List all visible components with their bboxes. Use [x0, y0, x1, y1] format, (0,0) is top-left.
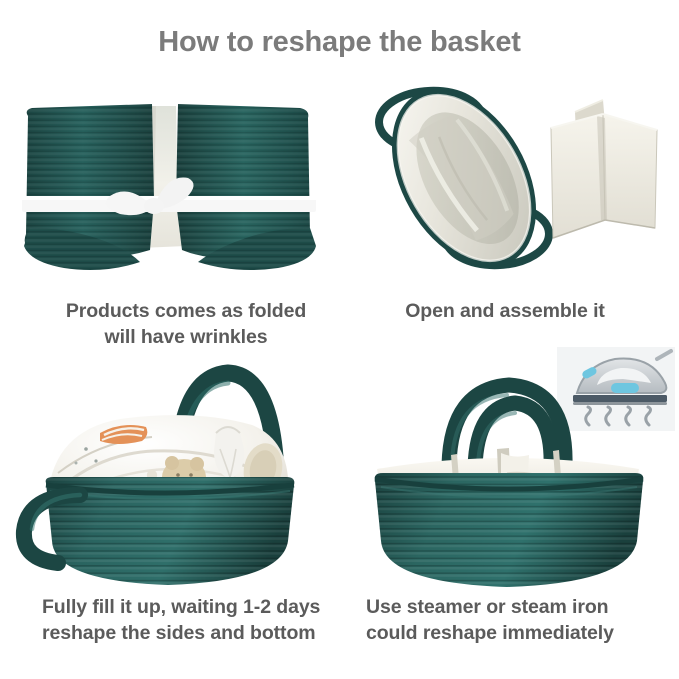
step-3-caption-line-1: Fully fill it up, waiting 1-2 days [42, 594, 365, 620]
step-1-caption: Products comes as folded will have wrink… [26, 298, 346, 350]
step-3-image [0, 345, 340, 590]
step-1-caption-line-1: Products comes as folded [26, 298, 346, 324]
step-2-caption: Open and assemble it [345, 298, 665, 324]
step-2-caption-line-1: Open and assemble it [345, 298, 665, 324]
step-3-caption-line-2: reshape the sides and bottom [42, 620, 365, 646]
steam-iron-icon [557, 347, 675, 431]
opened-basket [352, 46, 576, 310]
step-1-image [0, 78, 340, 278]
basket-body [375, 473, 644, 587]
step-4-image [339, 345, 679, 590]
infographic-page: How to reshape the basket [0, 0, 679, 679]
step-2-image [339, 78, 679, 278]
step-4-caption-line-2: could reshape immediately [366, 620, 670, 646]
step-4-caption-line-1: Use steamer or steam iron [366, 594, 670, 620]
filled-basket [0, 345, 340, 590]
step-3-caption: Fully fill it up, waiting 1-2 days resha… [10, 594, 365, 646]
opened-basket-and-divider [339, 78, 679, 278]
page-title: How to reshape the basket [0, 26, 679, 59]
basket-with-steam-iron-icon [339, 345, 679, 590]
divider-insert [551, 100, 657, 238]
step-4-caption: Use steamer or steam iron could reshape … [360, 594, 670, 646]
iron-knob-center [611, 383, 639, 393]
step-1-caption-line-2: will have wrinkles [26, 324, 346, 350]
folded-basket-with-ribbon [0, 78, 340, 278]
